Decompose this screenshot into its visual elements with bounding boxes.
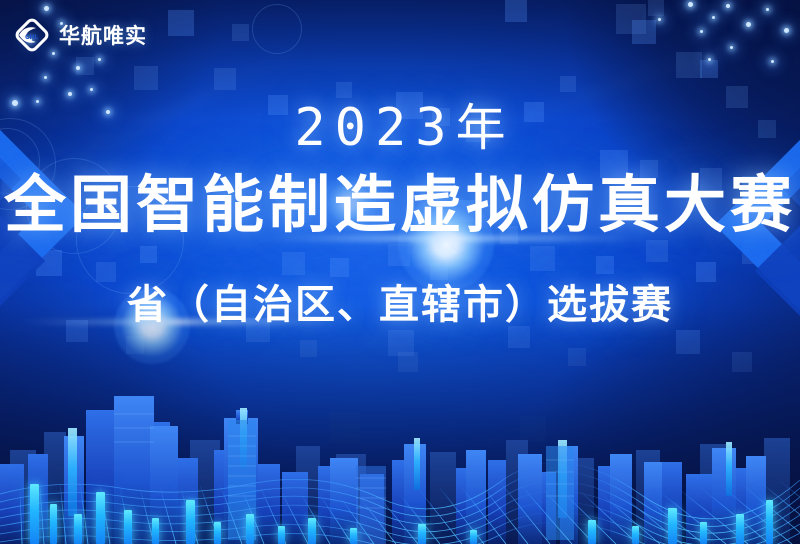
poster-canvas: CHL 华航唯实 2023年 全国智能制造虚拟仿真大赛 省（自治区、直辖市）选拔… — [0, 0, 800, 544]
year-heading: 2023年 — [0, 88, 800, 160]
brand-name: 华航唯实 — [59, 20, 147, 50]
year-number: 2023 — [294, 98, 455, 158]
page-title: 全国智能制造虚拟仿真大赛 — [0, 172, 800, 237]
chl-diamond-logo-icon: CHL — [12, 18, 52, 52]
brand-logo[interactable]: CHL 华航唯实 — [12, 18, 147, 52]
year-unit: 年 — [456, 99, 506, 157]
svg-text:CHL: CHL — [25, 34, 38, 41]
glowing-data-bars — [0, 444, 800, 544]
page-subtitle: 省（自治区、直辖市）选拔赛 — [0, 272, 800, 330]
